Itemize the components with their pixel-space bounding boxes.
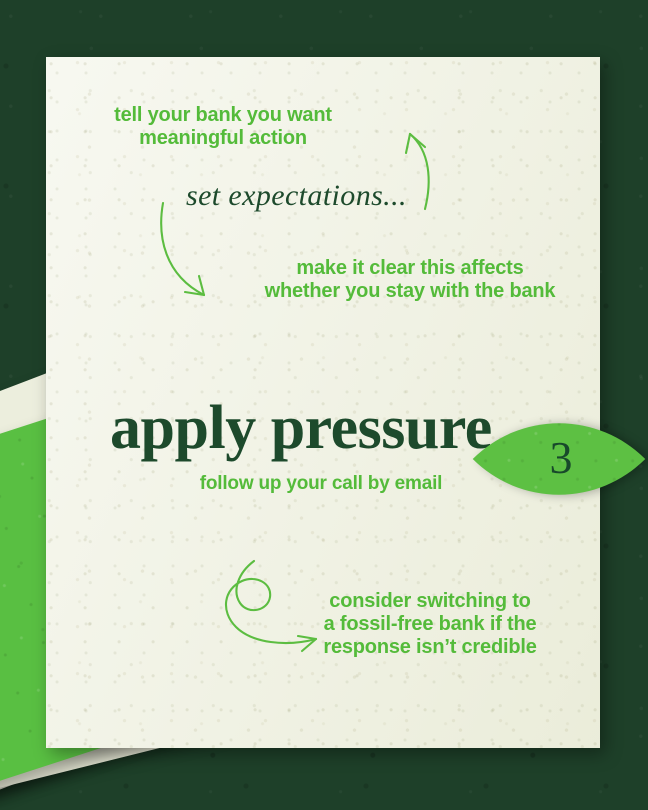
- note-follow-up-by-email: follow up your call by email: [156, 473, 486, 495]
- poster-canvas: tell your bank you want meaningful actio…: [0, 0, 648, 810]
- note-tell-your-bank: tell your bank you want meaningful actio…: [68, 104, 378, 150]
- subtitle-set-expectations: set expectations...: [186, 179, 407, 213]
- note-make-it-clear: make it clear this affects whether you s…: [214, 257, 606, 303]
- page-title: apply pressure: [110, 393, 492, 464]
- paper-card: tell your bank you want meaningful actio…: [46, 57, 600, 748]
- card-content: tell your bank you want meaningful actio…: [46, 57, 600, 748]
- note-consider-switching: consider switching to a fossil-free bank…: [264, 590, 596, 660]
